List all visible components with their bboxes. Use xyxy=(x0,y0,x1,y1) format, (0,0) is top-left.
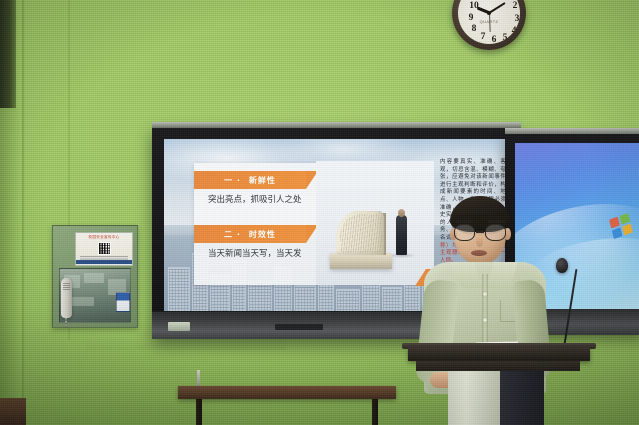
podium-desktop xyxy=(408,347,590,361)
bench-leg-right xyxy=(372,399,378,425)
eyeglass-lens-left xyxy=(454,224,475,241)
intercom-handset[interactable] xyxy=(61,278,72,318)
clock-number-3: 3 xyxy=(511,14,520,24)
podium-apron xyxy=(416,361,580,371)
clock-center-pin xyxy=(487,11,491,15)
handset-speaker-grill xyxy=(63,283,70,290)
section-2-body: 当天新闻当天写，当天发 xyxy=(202,248,312,260)
slide-section-header-2: 二 · 时效性 xyxy=(194,225,306,243)
slide-left-card: 一 · 新鲜性 突出亮点，抓吸引人之处 二 · 时效性 当天新闻当天写，当天发 xyxy=(194,163,318,285)
clock-number-2: 2 xyxy=(509,1,520,11)
emergency-call-badge[interactable] xyxy=(116,292,130,312)
section-2-number: 二 · xyxy=(224,229,241,240)
wall-clock: 12 1 2 3 4 5 6 7 8 9 10 11 QUARTZ xyxy=(452,0,526,50)
businessman-figurine-head xyxy=(398,209,405,217)
shirt-button-1 xyxy=(483,292,487,296)
slide-book-illustration xyxy=(316,161,434,285)
secondary-display-top-cap xyxy=(505,128,639,134)
qr-code-icon xyxy=(98,242,111,255)
clock-number-6: 6 xyxy=(488,35,500,44)
section-2-title: 时效性 xyxy=(249,229,276,240)
display-top-cap xyxy=(152,122,521,128)
slide-section-header-1: 一 · 新鲜性 xyxy=(194,171,306,189)
ir-sensor-icon xyxy=(275,324,323,330)
presenter-mouth xyxy=(471,250,487,256)
bench-backrest xyxy=(178,386,396,399)
eyeglass-bridge xyxy=(476,231,484,233)
classroom-photo-scene: 12 1 2 3 4 5 6 7 8 9 10 11 QUARTZ 校园安全宣传… xyxy=(0,0,639,425)
poster-footer-band xyxy=(76,260,132,264)
handset-cord xyxy=(65,318,67,328)
clock-number-5: 5 xyxy=(499,33,511,43)
businessman-figurine-body xyxy=(396,215,407,255)
door-frame-edge xyxy=(0,0,16,108)
clock-number-9: 9 xyxy=(465,13,477,23)
bench-leg-left xyxy=(196,399,202,425)
safety-poster: 校园安全宣传中心 xyxy=(75,232,133,266)
presenter-nose xyxy=(476,236,483,247)
shirt-button-2 xyxy=(483,318,487,322)
clock-number-8: 8 xyxy=(468,24,480,34)
eyeglass-lens-right xyxy=(485,224,506,241)
display-power-button[interactable] xyxy=(168,322,190,331)
clock-second-hand xyxy=(489,13,491,32)
section-1-body: 突出亮点，抓吸引人之处 xyxy=(202,194,312,206)
section-1-title: 新鲜性 xyxy=(249,175,276,186)
section-1-number: 一 · xyxy=(224,175,241,186)
lectern-podium xyxy=(400,347,598,425)
book-pages-stack xyxy=(330,253,392,269)
poster-title: 校园安全宣传中心 xyxy=(76,235,132,240)
presenter-eyebrow-right xyxy=(488,220,505,223)
bench-side-block xyxy=(0,398,26,425)
clock-minute-hand xyxy=(488,2,505,14)
podium-column-light xyxy=(448,371,500,425)
podium-column-dark xyxy=(500,371,544,425)
microphone-icon[interactable] xyxy=(556,258,568,273)
panel-reflection-b xyxy=(84,273,104,283)
book-open-leaf xyxy=(336,211,384,255)
bench-upright-post xyxy=(197,370,200,387)
presenter-eyebrow-left xyxy=(456,220,473,223)
wall-intercom-panel[interactable]: 校园安全宣传中心 xyxy=(52,225,138,328)
